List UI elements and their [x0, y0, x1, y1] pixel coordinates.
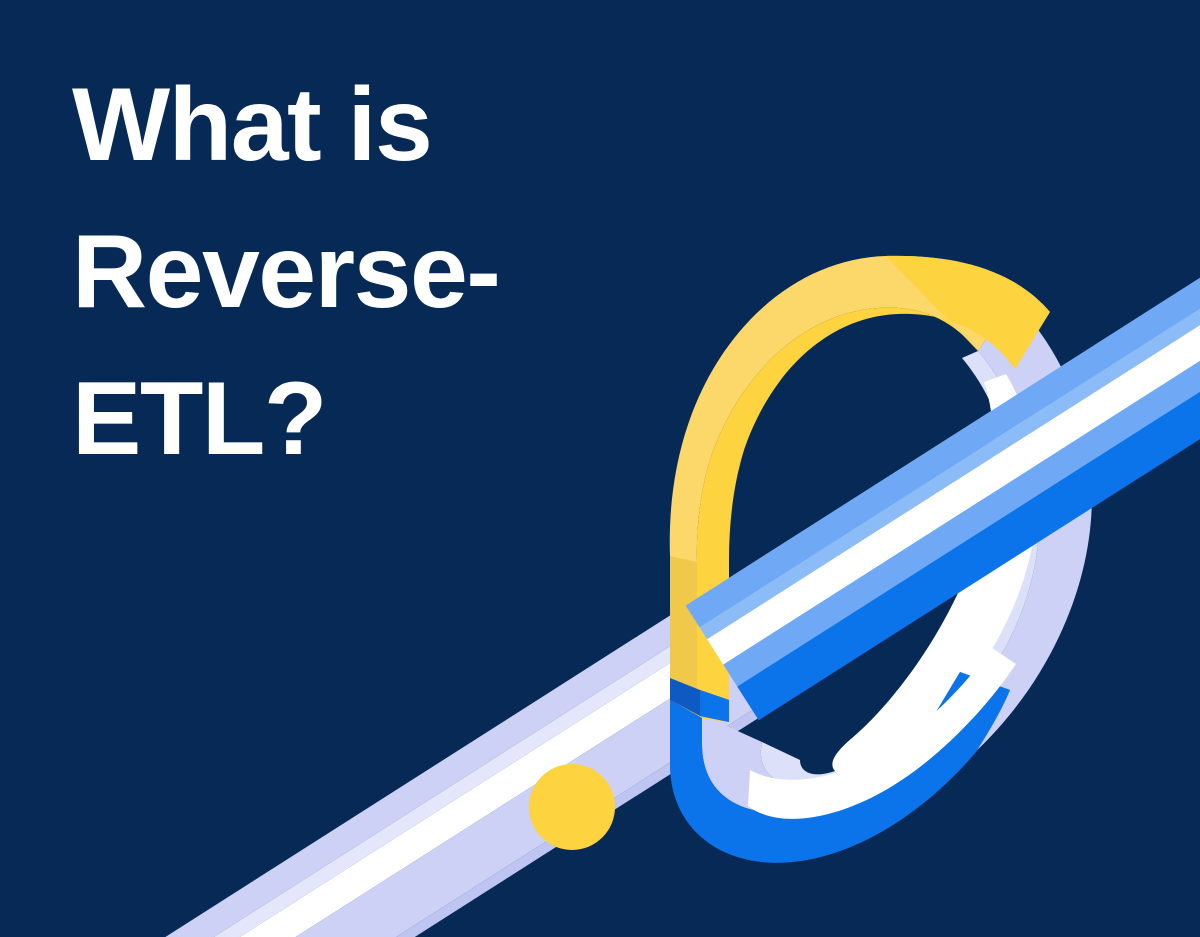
headline-line-1: What is	[72, 52, 672, 199]
headline-line-2: Reverse-	[72, 199, 672, 346]
headline-line-3: ETL?	[72, 346, 672, 493]
cover-card: What is Reverse- ETL?	[0, 0, 1200, 937]
yellow-dot	[529, 764, 615, 850]
page-title: What is Reverse- ETL?	[72, 52, 672, 493]
